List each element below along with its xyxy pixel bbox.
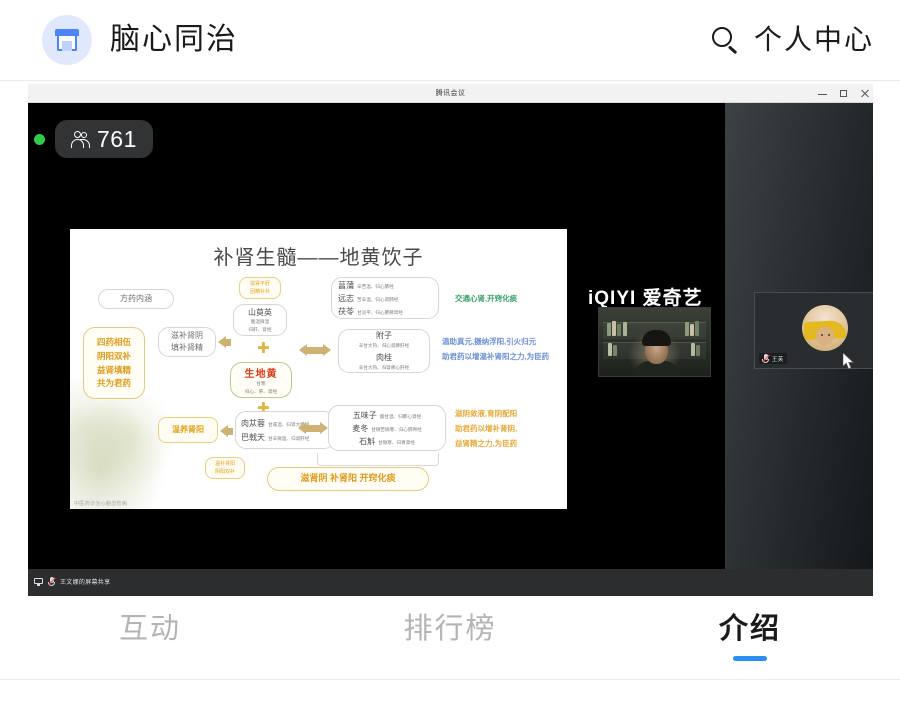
close-icon[interactable] <box>860 89 869 98</box>
slide-watermark: 中医药诊治心脑血管病 <box>74 500 127 507</box>
participant-strip: 王芙 <box>725 103 873 569</box>
bottom-tab-bar: 互动 排行榜 介绍 <box>0 599 900 680</box>
avatar <box>802 305 848 351</box>
video-stage: 腾讯会议 <box>0 81 900 599</box>
node-summary: 四药相伍 阴阳双补 益肾填精 共为君药 <box>83 327 145 399</box>
window-titlebar: 腾讯会议 <box>28 84 873 103</box>
slide-title: 补肾生髓——地黄饮子 <box>70 241 567 270</box>
presenter-video-tile[interactable] <box>598 307 711 377</box>
node-changpu-group: 菖蒲辛苦温、归心肺经 远志苦辛温、归心肾肺经 茯苓甘淡平、归心肺脾肾经 <box>331 277 439 319</box>
tab-underline <box>433 656 467 661</box>
participant-name-row: 王芙 <box>759 353 787 364</box>
mic-muted-icon-bottom <box>48 577 55 586</box>
footer-spacer <box>0 680 900 703</box>
tab-label: 排行榜 <box>403 615 496 644</box>
maximize-icon[interactable] <box>839 89 848 98</box>
tab-underline <box>133 656 167 661</box>
participant-count-value: 761 <box>97 128 137 151</box>
search-icon[interactable] <box>710 25 740 55</box>
brand-block: 脑心同治 <box>42 15 238 65</box>
user-center-link[interactable]: 个人中心 <box>754 26 874 54</box>
monitor-icon <box>34 578 43 586</box>
meeting-window: 腾讯会议 <box>28 84 873 596</box>
page-title: 脑心同治 <box>110 25 238 55</box>
annotation-gold-3: 益肾精之力,为臣药 <box>455 438 517 450</box>
plus-icon-upper: ✚ <box>257 341 270 356</box>
screen-share-label: 王文娜的屏幕共享 <box>60 577 110 586</box>
annotation-blue-1: 温助真元,摄纳浮阳,引火归元 <box>442 336 536 348</box>
header-actions: 个人中心 <box>710 25 874 55</box>
window-body: 761 iQIYI 爱奇艺 补肾生髓——地黄饮子 方药内涵 <box>28 103 873 596</box>
arrow-left-yin <box>225 339 231 346</box>
node-fuzi-rougui: 附子 辛甘大热、归心肾脾肝经 肉桂 辛甘大热、归肾脾心肝经 <box>338 329 430 373</box>
presenter-hair <box>642 330 671 346</box>
node-tag-bottom: 温补肾阳 阴阳双补 <box>205 457 245 479</box>
connector-bracket <box>317 453 439 466</box>
arrow-bidir-lower <box>305 425 321 432</box>
node-label-warm-yang: 温养肾阳 <box>158 417 218 443</box>
participant-tile[interactable]: 王芙 <box>754 292 873 369</box>
presentation-slide: 补肾生髓——地黄饮子 方药内涵 四药相伍 阴阳双补 益肾填精 共为君药 <box>70 229 567 509</box>
participant-count-group: 761 <box>34 120 153 158</box>
arrow-bidir-upper <box>306 347 324 354</box>
node-wuweizi-group: 五味子酸甘温、归肺心肾经 麦冬甘微苦微寒、归心肺胃经 石斛甘微寒、归胃肾经 <box>328 405 446 451</box>
tab-introduction[interactable]: 介绍 <box>600 599 900 661</box>
node-banner: 滋肾阴 补肾阳 开窍化痰 <box>267 467 429 491</box>
live-status-dot <box>34 134 45 145</box>
tab-interaction[interactable]: 互动 <box>0 599 300 661</box>
minimize-icon[interactable] <box>818 89 827 98</box>
node-label-nourish-yin: 滋补肾阴 填补肾精 <box>158 327 216 357</box>
tab-label: 介绍 <box>719 615 781 644</box>
people-icon <box>71 130 90 149</box>
node-topic: 方药内涵 <box>98 289 174 309</box>
tab-label: 互动 <box>119 615 181 644</box>
live-stream-page: 脑心同治 个人中心 腾讯会议 <box>0 0 900 703</box>
annotation-gold-2: 助君药以增补肾阴, <box>455 423 517 435</box>
participant-name: 王芙 <box>772 355 784 363</box>
screen-share-status: 王文娜的屏幕共享 <box>34 577 110 586</box>
screen-share-region: 761 iQIYI 爱奇艺 补肾生髓——地黄饮子 方药内涵 <box>28 103 725 569</box>
arrow-left-yang <box>227 428 233 435</box>
mic-muted-icon <box>762 354 769 363</box>
node-tag-top: 滋肾平肝 固精补补 <box>239 277 281 299</box>
participant-count-badge: 761 <box>55 120 153 158</box>
window-controls <box>818 84 869 103</box>
tab-underline <box>733 656 767 661</box>
page-header: 脑心同治 个人中心 <box>0 0 900 81</box>
window-title: 腾讯会议 <box>436 88 466 98</box>
meeting-bottom-bar: 王文娜的屏幕共享 <box>28 569 873 596</box>
iqiyi-watermark: iQIYI 爱奇艺 <box>588 283 703 310</box>
shop-icon <box>42 15 92 65</box>
node-shanzhuyu: 山萸英 酸温微温 归肝、肾经 <box>233 304 287 336</box>
annotation-blue-2: 助君药以增温补肾阳之力,为臣药 <box>442 351 549 363</box>
annotation-green: 交通心肾,开窍化痰 <box>455 293 517 305</box>
annotation-gold-1: 滋阴敛液,育阴配阳 <box>455 408 517 420</box>
node-shengdihuang: 生地黄 甘寒 归心、肝、肾经 <box>230 362 292 398</box>
tab-leaderboard[interactable]: 排行榜 <box>300 599 600 661</box>
